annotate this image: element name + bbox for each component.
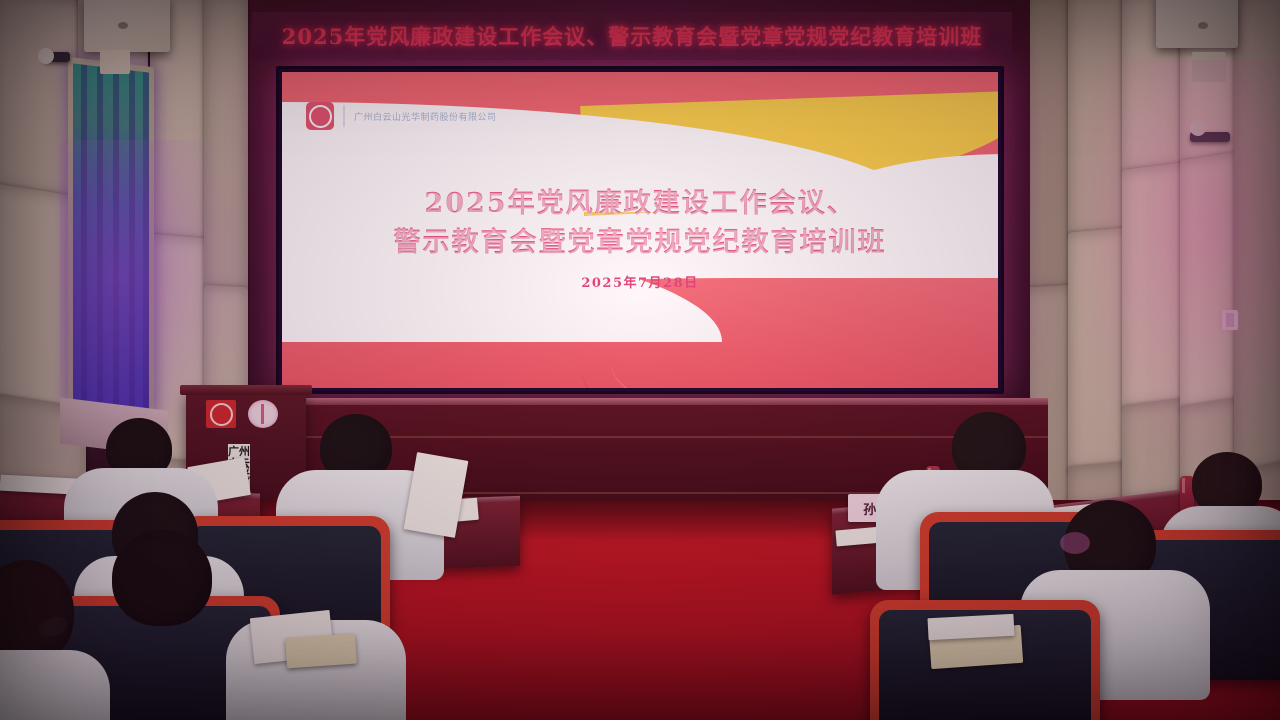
- baiyunshan-logo-icon: [306, 102, 334, 130]
- screen-title-block: 2025年党风廉政建设工作会议、 警示教育会暨党章党规党纪教育培训班 2025年…: [282, 184, 998, 291]
- banner-text: 2025年党风廉政建设工作会议、警示教育会暨党章党规党纪教育培训班: [282, 21, 982, 51]
- wall-spotlight-right: [1190, 132, 1230, 142]
- paper-foreground-right: [927, 614, 1014, 640]
- overhead-banner: 2025年党风廉政建设工作会议、警示教育会暨党章党规党纪教育培训班: [252, 12, 1012, 60]
- party-emblem-icon: [206, 400, 236, 428]
- conference-hall-photo: 2025年党风廉政建设工作会议、警示教育会暨党章党规党纪教育培训班 广州白云山光…: [0, 0, 1280, 720]
- led-screen: 广州白云山光华制药股份有限公司 2025年党风廉政建设工作会议、 警示教育会暨党…: [276, 66, 1004, 394]
- company-round-logo-icon: [248, 400, 278, 428]
- screen-company-name: 广州白云山光华制药股份有限公司: [354, 110, 497, 123]
- screen-title-line-2: 警示教育会暨党章党规党纪教育培训班: [282, 223, 998, 262]
- speaker-mount-right: [1192, 52, 1226, 82]
- speaker-mount-left: [100, 50, 130, 74]
- podium-top: [180, 385, 312, 395]
- wall-speaker-left: [84, 0, 170, 52]
- screen-date: 2025年7月28日: [282, 272, 998, 291]
- wall-speaker-right: [1156, 0, 1238, 48]
- light-switch[interactable]: [1222, 310, 1238, 330]
- wall-spotlight-left: [44, 52, 70, 62]
- notebook-foreground-left: [285, 634, 357, 669]
- screen-title-line-1: 2025年党风廉政建设工作会议、: [282, 184, 998, 223]
- screen-company-logo: 广州白云山光华制药股份有限公司: [306, 102, 497, 130]
- left-window: [68, 57, 154, 418]
- logo-divider: [343, 105, 345, 127]
